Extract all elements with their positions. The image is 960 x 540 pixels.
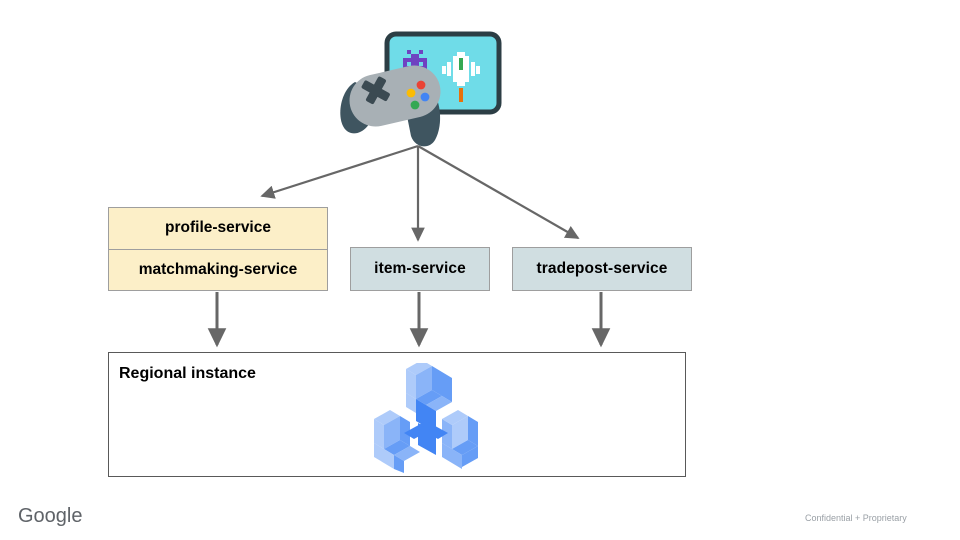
game-client-illustration [337,30,507,148]
service-group-profile[interactable]: profile-service matchmaking-service [108,207,328,291]
node-matchmaking-service[interactable]: matchmaking-service [109,249,327,291]
slide-canvas: profile-service matchmaking-service item… [0,0,960,540]
node-item-service[interactable]: item-service [350,247,490,291]
google-logo: Google [18,505,83,528]
edge-client-to-profile [262,146,418,196]
regional-instance-label: Regional instance [119,365,256,383]
game-controller-icon [340,60,445,146]
node-tradepost-service[interactable]: tradepost-service [512,247,692,291]
gke-logo-icon [358,363,488,473]
confidentiality-notice: Confidential + Proprietary [805,513,907,523]
node-profile-service[interactable]: profile-service [109,208,327,249]
edge-client-to-tradepost [418,146,578,238]
